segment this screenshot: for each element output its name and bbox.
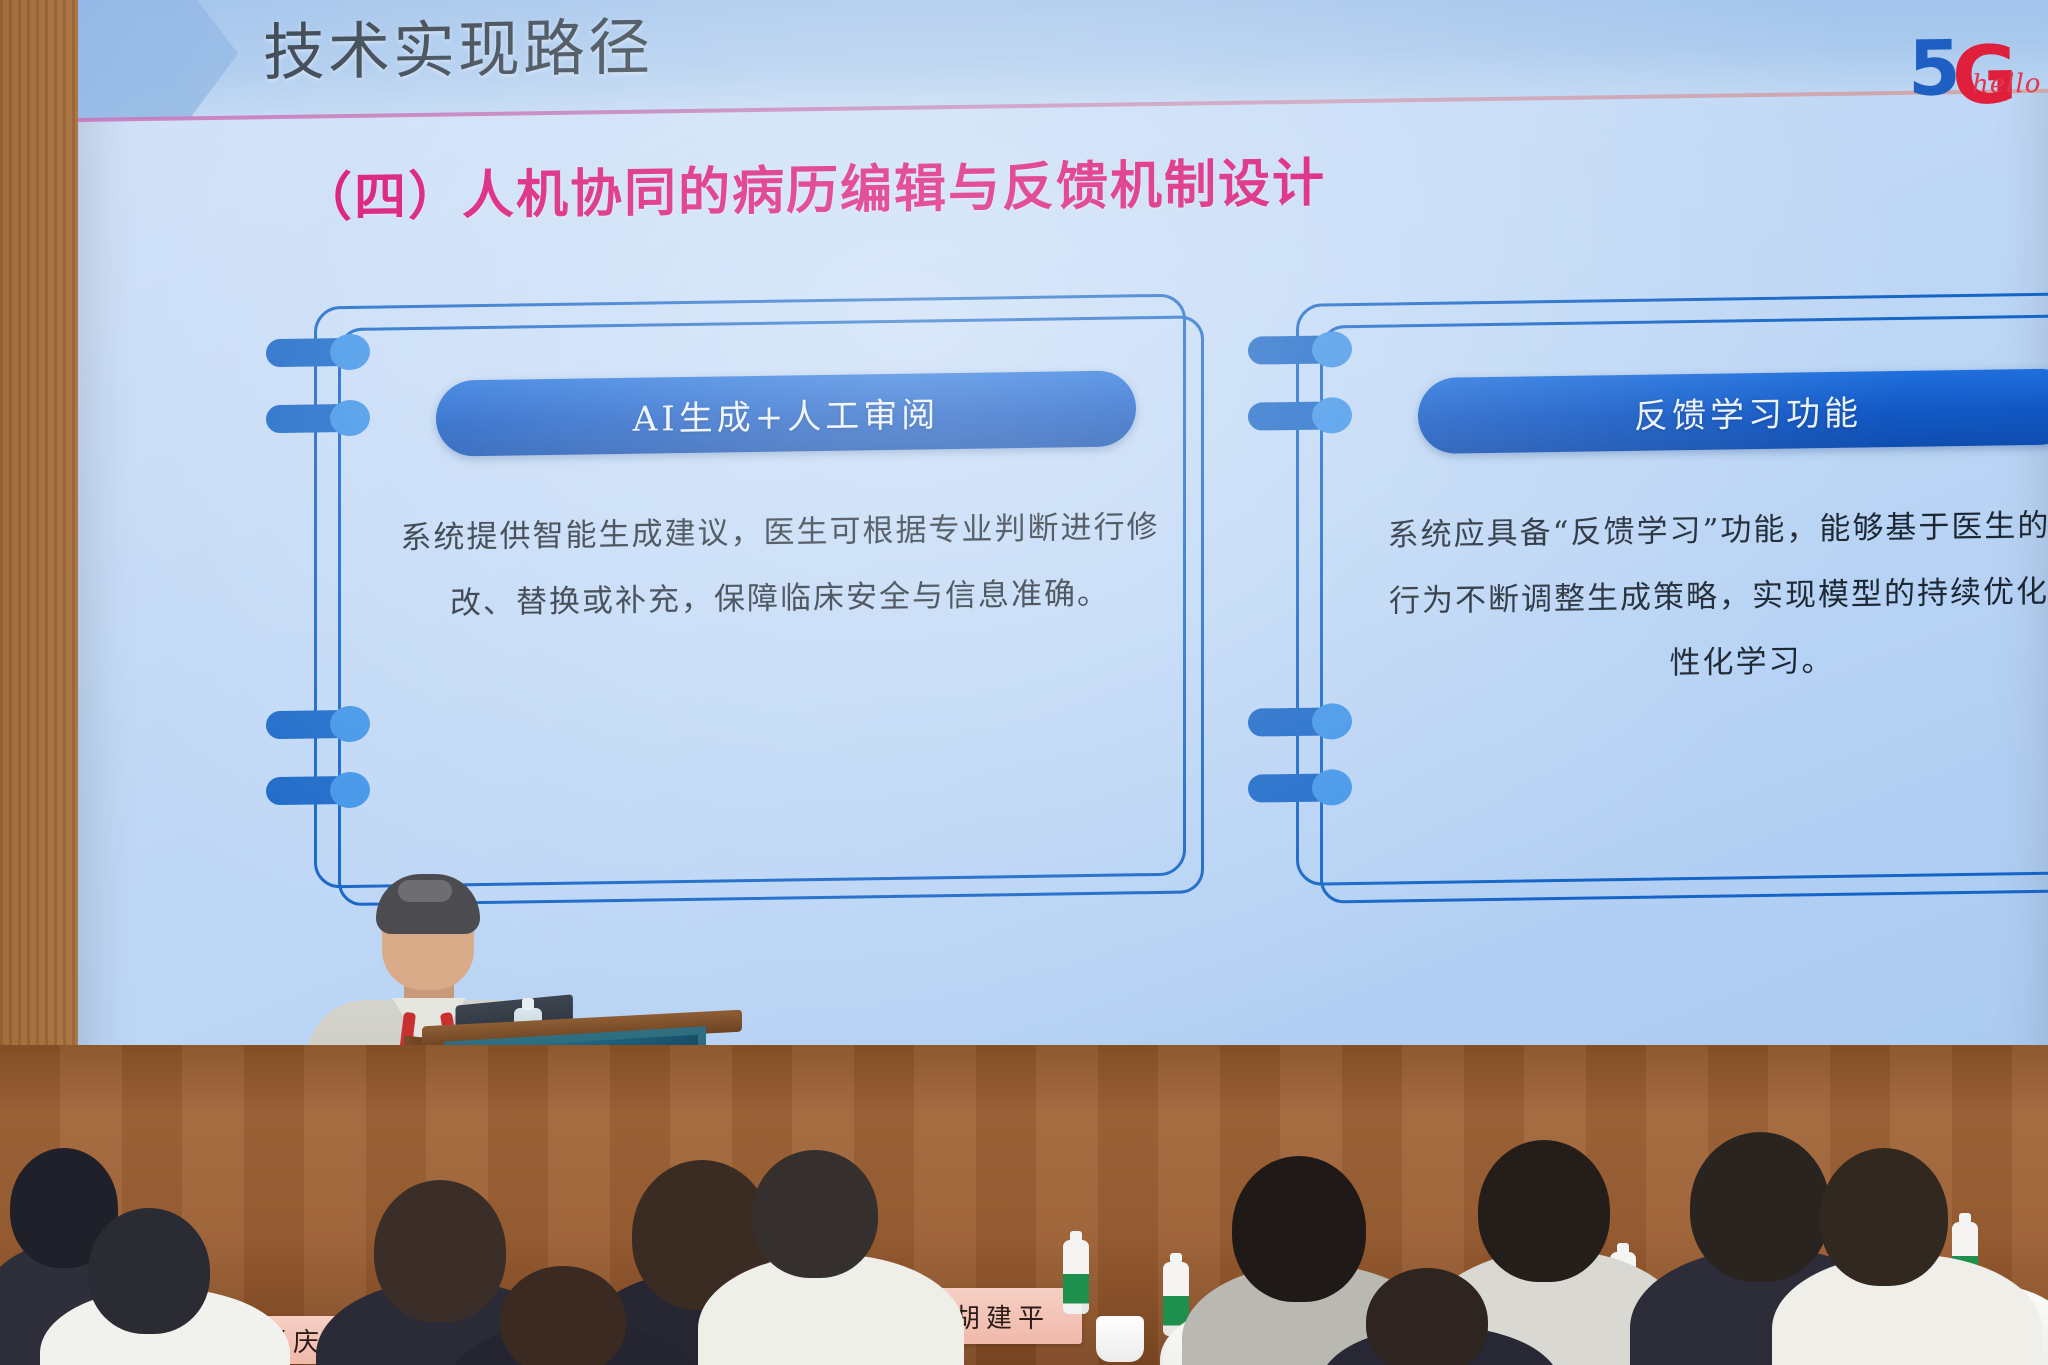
card-body-text-left: 系统提供智能生成建议，医生可根据专业判断进行修改、替换或补充，保障临床安全与信息… <box>400 494 1160 637</box>
card-pill-label: AI生成+人工审阅 <box>633 387 939 441</box>
binder-ring-icon <box>266 400 370 438</box>
audience-member <box>1792 1148 1982 1365</box>
card-body-text-right: 系统应具备“反馈学习”功能，能够基于医生的修改行为不断调整生成策略，实现模型的持… <box>1382 492 2048 701</box>
card-pill-header-right: 反馈学习功能 <box>1418 368 2048 454</box>
water-bottle <box>1063 1240 1089 1314</box>
binder-ring-icon <box>266 706 370 744</box>
binder-ring-icon <box>1248 331 1352 369</box>
presenter-hair <box>376 874 480 934</box>
conference-room-photo: 技术实现路径 5 G hello （四）人机协同的病历编辑与反馈机制设计 <box>0 0 2048 1365</box>
five-g-logo: 5 G hello <box>1908 25 2038 119</box>
card-pill-header-left: AI生成+人工审阅 <box>436 370 1136 456</box>
audience-member <box>1340 1268 1530 1365</box>
slide-title: （四）人机协同的病历编辑与反馈机制设计 <box>300 151 1326 230</box>
placard-name: 胡建平 <box>954 1298 1050 1335</box>
audience-head <box>500 1266 626 1365</box>
binder-ring-icon <box>1248 397 1352 435</box>
binder-ring-icon <box>266 772 370 810</box>
audience-member <box>74 1208 244 1365</box>
card-pill-label: 反馈学习功能 <box>1634 385 1862 437</box>
binder-ring-icon <box>1248 769 1352 807</box>
coffee-cup <box>1096 1316 1144 1362</box>
binder-ring-icon <box>1248 703 1352 741</box>
audience-head <box>1478 1140 1610 1282</box>
binder-ring-icon <box>266 334 370 372</box>
slide-header-title: 技术实现路径 <box>263 7 653 93</box>
card-feedback-learning: 反馈学习功能 系统应具备“反馈学习”功能，能够基于医生的修改行为不断调整生成策略… <box>1296 291 2048 904</box>
audience-member <box>728 1150 918 1365</box>
audience-head <box>1366 1268 1488 1365</box>
notebook-rings-right <box>1248 303 1368 905</box>
logo-hello-text: hello <box>1972 69 2041 100</box>
audience-head <box>1820 1148 1948 1286</box>
audience-member <box>470 1266 670 1365</box>
card-ai-generation-human-review: AI生成+人工审阅 系统提供智能生成建议，医生可根据专业判断进行修改、替换或补充… <box>314 293 1204 906</box>
notebook-rings-left <box>266 305 386 907</box>
audience-head <box>88 1208 210 1334</box>
audience-head <box>752 1150 878 1278</box>
